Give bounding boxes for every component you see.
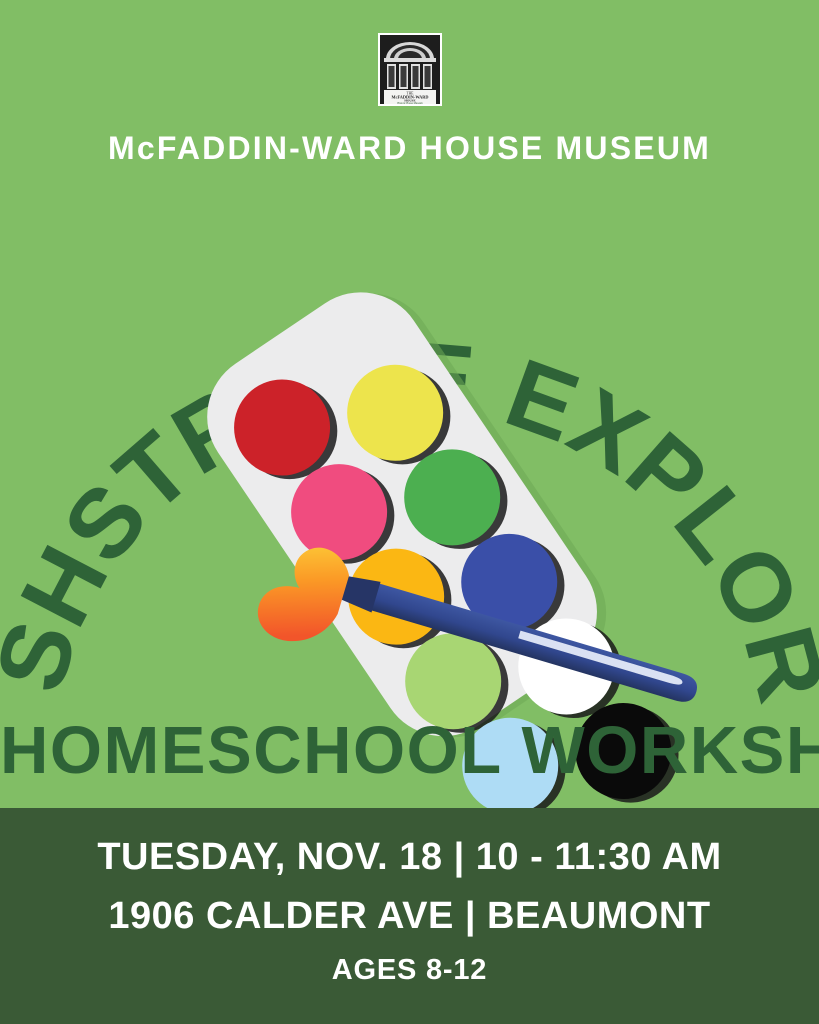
museum-name: McFADDIN-WARD HOUSE MUSEUM	[0, 130, 819, 167]
museum-building-icon: THE McFADDIN-WARD HOUSE Historic House M…	[378, 33, 442, 106]
event-age-range: AGES 8-12	[332, 954, 488, 987]
event-details-bar: TUESDAY, NOV. 18 | 10 - 11:30 AM 1906 CA…	[0, 808, 819, 1024]
museum-logo: THE McFADDIN-WARD HOUSE Historic House M…	[0, 33, 819, 106]
workshop-subtitle: HOMESCHOOL WORKSHOP	[0, 712, 819, 789]
event-datetime: TUESDAY, NOV. 18 | 10 - 11:30 AM	[97, 836, 721, 879]
event-address: 1906 CALDER AVE | BEAUMONT	[108, 895, 710, 938]
logo-text-tagline: Historic House Museum	[397, 102, 422, 105]
curved-title-svg: BRUSHSTROKE EXPLORERS	[0, 170, 819, 700]
curved-title-text: BRUSHSTROKE EXPLORERS	[0, 81, 819, 713]
curved-title: BRUSHSTROKE EXPLORERS	[0, 170, 819, 700]
event-poster: THE McFADDIN-WARD HOUSE Historic House M…	[0, 0, 819, 1024]
